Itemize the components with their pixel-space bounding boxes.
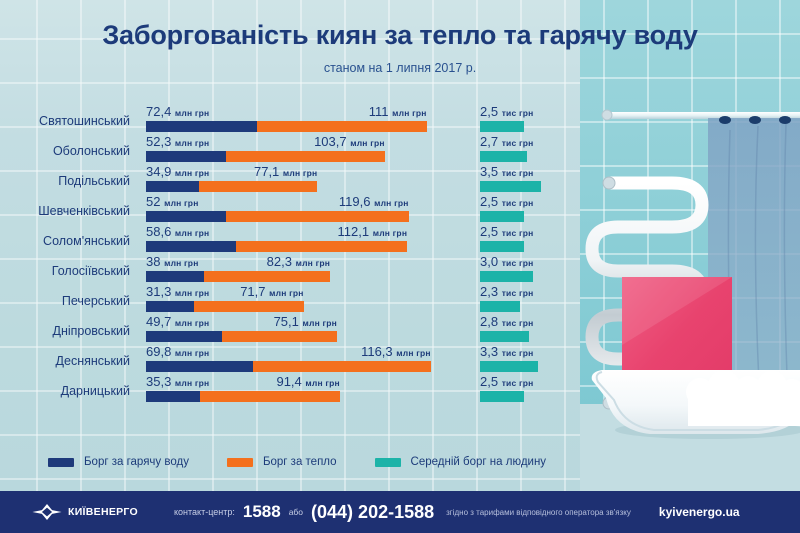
legend-swatch xyxy=(375,458,401,467)
avg-debt-per-person-value: 2,3 тис грн xyxy=(480,284,533,299)
avg-debt-bar-fill xyxy=(480,241,524,252)
stacked-bar xyxy=(146,241,407,252)
hot-water-debt-value: 69,8 млн грн xyxy=(146,344,209,359)
avg-debt-per-person-value: 2,5 тис грн xyxy=(480,374,533,389)
avg-debt-per-person-value: 3,3 тис грн xyxy=(480,344,533,359)
legend-label: Борг за гарячу воду xyxy=(84,456,189,468)
heating-debt-bar xyxy=(200,391,340,402)
hot-water-debt-value: 49,7 млн грн xyxy=(146,314,209,329)
avg-debt-per-person-value: 2,5 тис грн xyxy=(480,104,533,119)
district-label: Голосіївський xyxy=(0,264,130,278)
hot-water-debt-value: 31,3 млн грн xyxy=(146,284,209,299)
heating-debt-bar xyxy=(253,361,431,372)
avg-debt-per-person-value: 3,0 тис грн xyxy=(480,254,533,269)
legend-label: Середній борг на людину xyxy=(411,456,547,468)
hot-water-debt-bar xyxy=(146,121,257,132)
stacked-bar xyxy=(146,211,409,222)
hot-water-debt-bar xyxy=(146,211,226,222)
chart-row: Печерський31,3 млн грн71,7 млн грн2,3 ти… xyxy=(0,284,800,314)
district-label: Святошинський xyxy=(0,114,130,128)
hot-water-debt-bar xyxy=(146,361,253,372)
infographic-root: Заборгованість киян за тепло та гарячу в… xyxy=(0,0,800,533)
chart-row: Дніпровський49,7 млн грн75,1 млн грн2,8 … xyxy=(0,314,800,344)
hot-water-debt-value: 35,3 млн грн xyxy=(146,374,209,389)
legend-swatch xyxy=(48,458,74,467)
page-title: Заборгованість киян за тепло та гарячу в… xyxy=(0,20,800,51)
district-label: Дарницький xyxy=(0,384,130,398)
stacked-bar xyxy=(146,391,340,402)
heating-debt-bar xyxy=(199,181,317,192)
chart-row: Оболонський52,3 млн грн103,7 млн грн2,7 … xyxy=(0,134,800,164)
avg-debt-bar-fill xyxy=(480,211,524,222)
hot-water-debt-bar xyxy=(146,331,222,342)
legend-swatch xyxy=(227,458,253,467)
chart-row: Шевченківський52 млн грн119,6 млн грн2,5… xyxy=(0,194,800,224)
heating-debt-value: 119,6 млн грн xyxy=(339,194,409,209)
stacked-bar xyxy=(146,181,317,192)
legend-item: Борг за гарячу воду xyxy=(48,456,189,468)
chart-row: Дарницький35,3 млн грн91,4 млн грн2,5 ти… xyxy=(0,374,800,404)
contact-center-label: контакт-центр: xyxy=(174,507,235,517)
avg-debt-per-person-value: 3,5 тис грн xyxy=(480,164,533,179)
stacked-bar xyxy=(146,361,431,372)
district-label: Подільський xyxy=(0,174,130,188)
heating-debt-value: 71,7 млн грн xyxy=(240,284,303,299)
kyivenergo-logo: КИЇВЕНЕРГО xyxy=(32,504,138,520)
avg-debt-bar-fill xyxy=(480,331,529,342)
chart-row: Солом'янський58,6 млн грн112,1 млн грн2,… xyxy=(0,224,800,254)
heating-debt-value: 75,1 млн грн xyxy=(274,314,337,329)
website-link[interactable]: kyivenergo.ua xyxy=(659,505,740,519)
hot-water-debt-bar xyxy=(146,181,199,192)
stacked-bar xyxy=(146,151,385,162)
avg-debt-per-person-value: 2,8 тис грн xyxy=(480,314,533,329)
chart-row: Деснянський69,8 млн грн116,3 млн грн3,3 … xyxy=(0,344,800,374)
avg-debt-bar-fill xyxy=(480,361,538,372)
heating-debt-value: 111 млн грн xyxy=(369,104,427,119)
chart-row: Святошинський72,4 млн грн111 млн грн2,5 … xyxy=(0,104,800,134)
avg-debt-bar-fill xyxy=(480,121,524,132)
district-label: Деснянський xyxy=(0,354,130,368)
district-label: Печерський xyxy=(0,294,130,308)
hot-water-debt-bar xyxy=(146,301,194,312)
legend-label: Борг за тепло xyxy=(263,456,337,468)
chart-legend: Борг за гарячу водуБорг за теплоСередній… xyxy=(48,452,584,472)
heating-debt-bar xyxy=(236,241,408,252)
hot-water-debt-value: 38 млн грн xyxy=(146,254,199,269)
heating-debt-bar xyxy=(257,121,427,132)
avg-debt-per-person-value: 2,5 тис грн xyxy=(480,224,533,239)
heating-debt-bar xyxy=(226,151,385,162)
footer-bar: КИЇВЕНЕРГО контакт-центр: 1588 або (044)… xyxy=(0,491,800,533)
heating-debt-bar xyxy=(194,301,304,312)
avg-debt-bar-fill xyxy=(480,181,541,192)
district-label: Шевченківський xyxy=(0,204,130,218)
district-label: Солом'янський xyxy=(0,234,130,248)
avg-debt-per-person-value: 2,5 тис грн xyxy=(480,194,533,209)
avg-debt-bar-fill xyxy=(480,151,527,162)
hot-water-debt-value: 52,3 млн грн xyxy=(146,134,209,149)
avg-debt-bar-fill xyxy=(480,301,520,312)
stacked-bar xyxy=(146,121,427,132)
stacked-bar xyxy=(146,271,330,282)
heating-debt-value: 103,7 млн грн xyxy=(314,134,385,149)
hot-water-debt-bar xyxy=(146,151,226,162)
hot-water-debt-value: 52 млн грн xyxy=(146,194,199,209)
logo-text: КИЇВЕНЕРГО xyxy=(68,506,138,518)
heating-debt-value: 112,1 млн грн xyxy=(338,224,408,239)
tariff-note: згідно з тарифами відповідного оператора… xyxy=(446,508,631,517)
legend-item: Борг за тепло xyxy=(227,456,337,468)
legend-item: Середній борг на людину xyxy=(375,456,547,468)
hot-water-debt-value: 34,9 млн грн xyxy=(146,164,209,179)
heating-debt-value: 91,4 млн грн xyxy=(276,374,339,389)
heating-debt-bar xyxy=(226,211,409,222)
hot-water-debt-value: 72,4 млн грн xyxy=(146,104,209,119)
hot-water-debt-bar xyxy=(146,241,236,252)
hot-water-debt-bar xyxy=(146,271,204,282)
heating-debt-value: 116,3 млн грн xyxy=(361,344,431,359)
district-label: Дніпровський xyxy=(0,324,130,338)
hot-water-debt-value: 58,6 млн грн xyxy=(146,224,209,239)
full-phone-number[interactable]: (044) 202-1588 xyxy=(311,502,434,523)
compass-star-icon xyxy=(32,504,62,520)
chart-row: Голосіївський38 млн грн82,3 млн грн3,0 т… xyxy=(0,254,800,284)
avg-debt-per-person-value: 2,7 тис грн xyxy=(480,134,533,149)
avg-debt-bar-fill xyxy=(480,391,524,402)
avg-debt-bar-fill xyxy=(480,271,533,282)
stacked-bar xyxy=(146,331,337,342)
chart-row: Подільський34,9 млн грн77,1 млн грн3,5 т… xyxy=(0,164,800,194)
stacked-bar xyxy=(146,301,304,312)
heating-debt-value: 82,3 млн грн xyxy=(267,254,330,269)
or-label: або xyxy=(289,507,303,517)
heating-debt-bar xyxy=(222,331,337,342)
district-label: Оболонський xyxy=(0,144,130,158)
hot-water-debt-bar xyxy=(146,391,200,402)
district-debt-chart: Святошинський72,4 млн грн111 млн грн2,5 … xyxy=(0,104,800,404)
page-subtitle: станом на 1 липня 2017 р. xyxy=(0,61,800,75)
short-phone-number[interactable]: 1588 xyxy=(243,502,281,522)
heating-debt-value: 77,1 млн грн xyxy=(254,164,317,179)
heating-debt-bar xyxy=(204,271,330,282)
